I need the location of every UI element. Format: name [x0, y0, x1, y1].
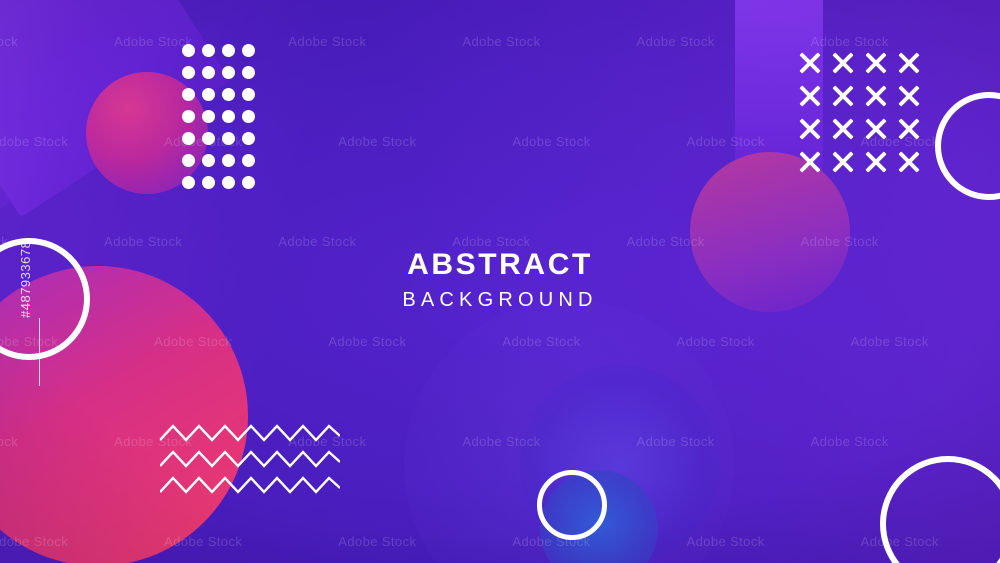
dot [222, 154, 235, 167]
dot [182, 88, 195, 101]
x-icon [896, 50, 922, 76]
abstract-background-image: ABSTRACT BACKGROUND Adobe StockAdobe Sto… [0, 0, 1000, 563]
dot [182, 66, 195, 79]
dot [242, 110, 255, 123]
x-icon [896, 116, 922, 142]
dot [222, 132, 235, 145]
dot [242, 176, 255, 189]
x-icon [896, 83, 922, 109]
x-icon [863, 50, 889, 76]
dot [182, 132, 195, 145]
dot [242, 66, 255, 79]
dot [202, 88, 215, 101]
dot [202, 66, 215, 79]
dot [182, 176, 195, 189]
dot-grid-pattern [182, 44, 262, 198]
dot [202, 44, 215, 57]
dot [242, 132, 255, 145]
dot [182, 44, 195, 57]
dot [222, 176, 235, 189]
x-icon [896, 149, 922, 175]
x-icon [797, 50, 823, 76]
dot [222, 44, 235, 57]
dot [242, 88, 255, 101]
x-icon [797, 149, 823, 175]
dot [202, 176, 215, 189]
dot [202, 154, 215, 167]
page-title: ABSTRACT [0, 248, 1000, 281]
x-icon [830, 149, 856, 175]
dot [182, 154, 195, 167]
dot [242, 44, 255, 57]
dot [202, 132, 215, 145]
dot [222, 110, 235, 123]
x-icon [830, 50, 856, 76]
ring-bottom-center-icon [537, 470, 607, 540]
x-icon [830, 116, 856, 142]
dot [182, 110, 195, 123]
x-icon [863, 116, 889, 142]
x-icon [797, 116, 823, 142]
dot [222, 88, 235, 101]
dot [242, 154, 255, 167]
x-icon [863, 149, 889, 175]
zigzag-pattern [160, 418, 340, 508]
x-icon [797, 83, 823, 109]
title-block: ABSTRACT BACKGROUND [0, 248, 1000, 312]
page-subtitle: BACKGROUND [0, 289, 1000, 312]
dot [222, 66, 235, 79]
x-icon [863, 83, 889, 109]
x-icon [830, 83, 856, 109]
x-grid-pattern [797, 50, 929, 182]
dot [202, 110, 215, 123]
